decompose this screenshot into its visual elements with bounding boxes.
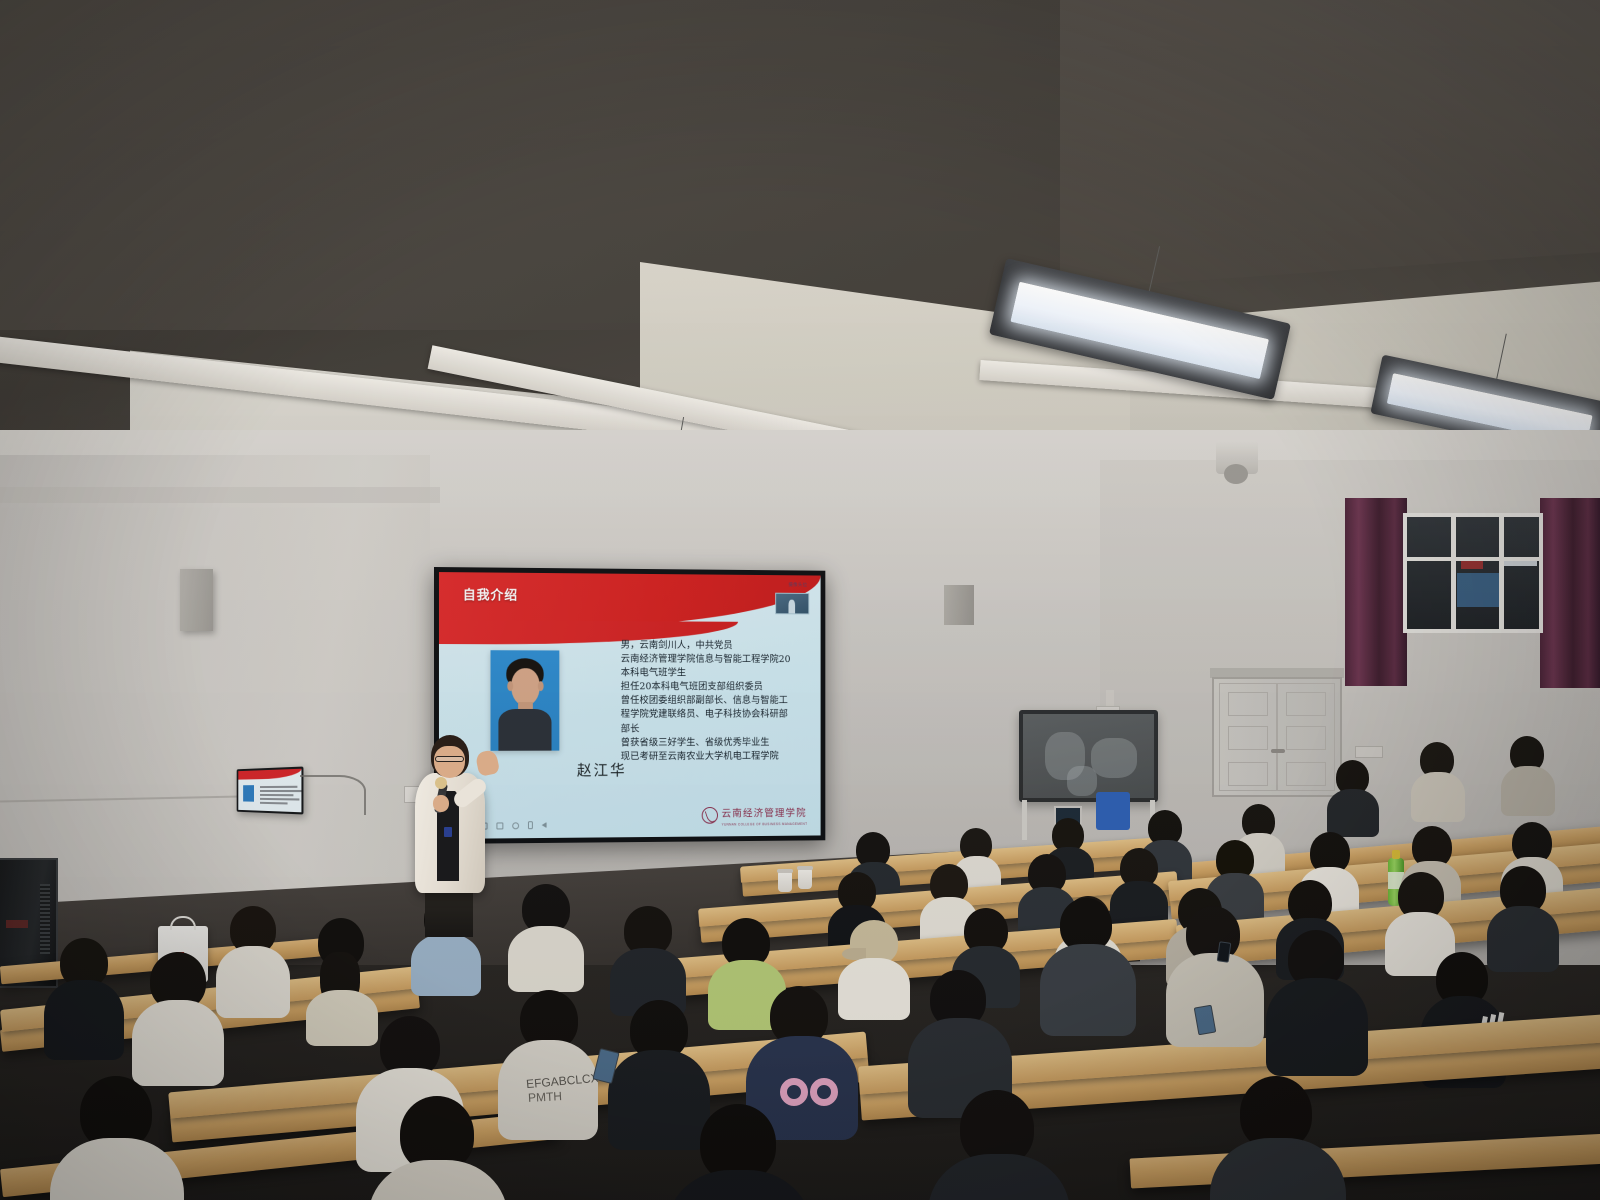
window-glow bbox=[1457, 573, 1499, 607]
window-transom bbox=[1407, 557, 1539, 561]
student-torso bbox=[1411, 772, 1465, 822]
door-panel bbox=[1228, 762, 1268, 786]
curtain-left bbox=[1345, 498, 1407, 686]
glasses-icon bbox=[435, 756, 464, 762]
student-torso bbox=[216, 946, 290, 1018]
logo-text-block: 云南经济管理学院 YUNNAN COLLEGE OF BUSINESS MANA… bbox=[722, 803, 808, 826]
student-torso bbox=[1501, 766, 1555, 816]
slide-body-line: 曾获省级三好学生、省级优秀毕业生 bbox=[621, 736, 817, 750]
ceiling-panel-right bbox=[1060, 0, 1600, 290]
slide-body-line: 曾任校团委组织部副部长、信息与智能工 bbox=[621, 695, 817, 709]
slide-presenter-name: 赵江华 bbox=[577, 759, 627, 780]
student-torso bbox=[44, 980, 124, 1060]
window-mullion bbox=[1451, 517, 1456, 629]
presentation-slide: 自我介绍 摄像头位 赵江华 男，云南剑川人，中共党员 云南经济管理学院信息与智能… bbox=[439, 572, 821, 839]
wall-monitor-text-line bbox=[260, 790, 301, 792]
mobile-icon[interactable] bbox=[528, 821, 533, 829]
portrait-face bbox=[511, 668, 540, 706]
wall-monitor-text-line bbox=[260, 802, 288, 804]
slide-body-line: 现已考研至云南农业大学机电工程学院 bbox=[621, 750, 817, 765]
presenter-badge bbox=[444, 827, 452, 837]
microphone-head bbox=[435, 777, 447, 789]
logo-text-cn: 云南经济管理学院 bbox=[722, 808, 807, 819]
student-torso bbox=[838, 958, 910, 1020]
cabinet-indicator bbox=[6, 920, 28, 928]
wall-monitor-text-line bbox=[260, 794, 293, 796]
slide-body-line: 担任20本科电气班团支部组织委员 bbox=[621, 681, 817, 695]
hoodie-logo-icon bbox=[810, 1078, 838, 1106]
slide-institution-logo: 云南经济管理学院 YUNNAN COLLEGE OF BUSINESS MANA… bbox=[701, 803, 807, 826]
student-torso bbox=[608, 1050, 710, 1150]
whiteboard-writing bbox=[1091, 738, 1137, 778]
slide-body-line: 部长 bbox=[621, 722, 817, 736]
paper-cup bbox=[798, 869, 812, 889]
video-icon[interactable] bbox=[496, 822, 503, 829]
door-panel bbox=[1228, 726, 1268, 750]
portrait-shirt bbox=[498, 709, 551, 751]
student-torso bbox=[306, 990, 378, 1046]
ceiling-projector-mount bbox=[1216, 440, 1258, 474]
student-torso bbox=[1327, 789, 1379, 837]
presenter-hand-left bbox=[433, 795, 449, 812]
wall-monitor-banner bbox=[238, 769, 301, 780]
door-leaf-right bbox=[1277, 683, 1335, 791]
student-torso bbox=[132, 1000, 224, 1086]
window-reflection-lamp bbox=[1503, 561, 1537, 566]
wall-speaker-right bbox=[944, 585, 974, 625]
wall-monitor-photo bbox=[243, 785, 254, 802]
wall-trim bbox=[0, 487, 440, 503]
door-handle-icon[interactable] bbox=[1271, 749, 1285, 753]
door-panel bbox=[1286, 692, 1326, 716]
camera-figure bbox=[788, 600, 795, 614]
ceiling-panel-left bbox=[0, 0, 1100, 330]
paper-cup bbox=[778, 872, 792, 892]
slide-camera-thumbnail bbox=[775, 593, 809, 615]
slide-portrait-photo bbox=[491, 650, 560, 751]
presenter bbox=[409, 735, 495, 935]
mobile-whiteboard bbox=[1019, 710, 1158, 802]
student-torso bbox=[508, 926, 584, 992]
door-leaf-left bbox=[1219, 683, 1277, 791]
portrait-ear bbox=[507, 681, 513, 691]
wall-outlet bbox=[1355, 746, 1383, 758]
cabinet-vent bbox=[40, 884, 50, 954]
lecture-hall-scene: 自我介绍 摄像头位 赵江华 男，云南剑川人，中共党员 云南经济管理学院信息与智能… bbox=[0, 0, 1600, 1200]
student-torso bbox=[1266, 978, 1368, 1076]
slide-body-line: 男，云南剑川人，中共党员 bbox=[621, 639, 817, 654]
monitor-cables bbox=[300, 775, 366, 815]
logo-text-en: YUNNAN COLLEGE OF BUSINESS MANAGEMENT bbox=[722, 822, 808, 827]
student-torso bbox=[1487, 906, 1559, 972]
presenter-face bbox=[434, 746, 465, 778]
slide-body-line: 程学院党建联络员、电子科技协会科研部 bbox=[621, 708, 817, 722]
wall-monitor-text-line bbox=[260, 798, 299, 800]
student-torso bbox=[1166, 953, 1264, 1047]
institution-emblem-icon bbox=[701, 807, 717, 824]
wall-monitor-text-line bbox=[260, 786, 297, 788]
curtain-right bbox=[1540, 498, 1600, 688]
next-icon[interactable] bbox=[542, 822, 547, 828]
slide-body-text: 男，云南剑川人，中共党员 云南经济管理学院信息与智能工程学院20 本科电气班学生… bbox=[621, 639, 817, 764]
wall-monitor-slide bbox=[238, 769, 301, 813]
slide-title: 自我介绍 bbox=[463, 584, 518, 603]
settings-icon[interactable] bbox=[512, 822, 519, 829]
tee-print-text: PMTH bbox=[528, 1089, 563, 1105]
window bbox=[1403, 513, 1543, 633]
wall-speaker-left bbox=[180, 569, 213, 631]
student-torso bbox=[1040, 944, 1136, 1036]
portrait-ear bbox=[538, 681, 544, 691]
slide-camera-label: 摄像头位 bbox=[788, 582, 807, 588]
student-torso bbox=[411, 934, 481, 996]
blue-bin bbox=[1096, 792, 1130, 830]
whiteboard-writing bbox=[1067, 766, 1097, 796]
hoodie-logo-icon bbox=[780, 1078, 808, 1106]
door-panel bbox=[1286, 762, 1326, 786]
wall-monitor-mirror bbox=[237, 767, 304, 815]
door-panel bbox=[1286, 726, 1326, 750]
whiteboard-stand-leg bbox=[1022, 800, 1027, 840]
slide-body-line: 云南经济管理学院信息与智能工程学院20 bbox=[621, 653, 817, 667]
double-door[interactable] bbox=[1212, 677, 1342, 797]
window-mullion bbox=[1499, 517, 1504, 629]
door-panel bbox=[1228, 692, 1268, 716]
slide-body-line: 本科电气班学生 bbox=[621, 667, 817, 681]
